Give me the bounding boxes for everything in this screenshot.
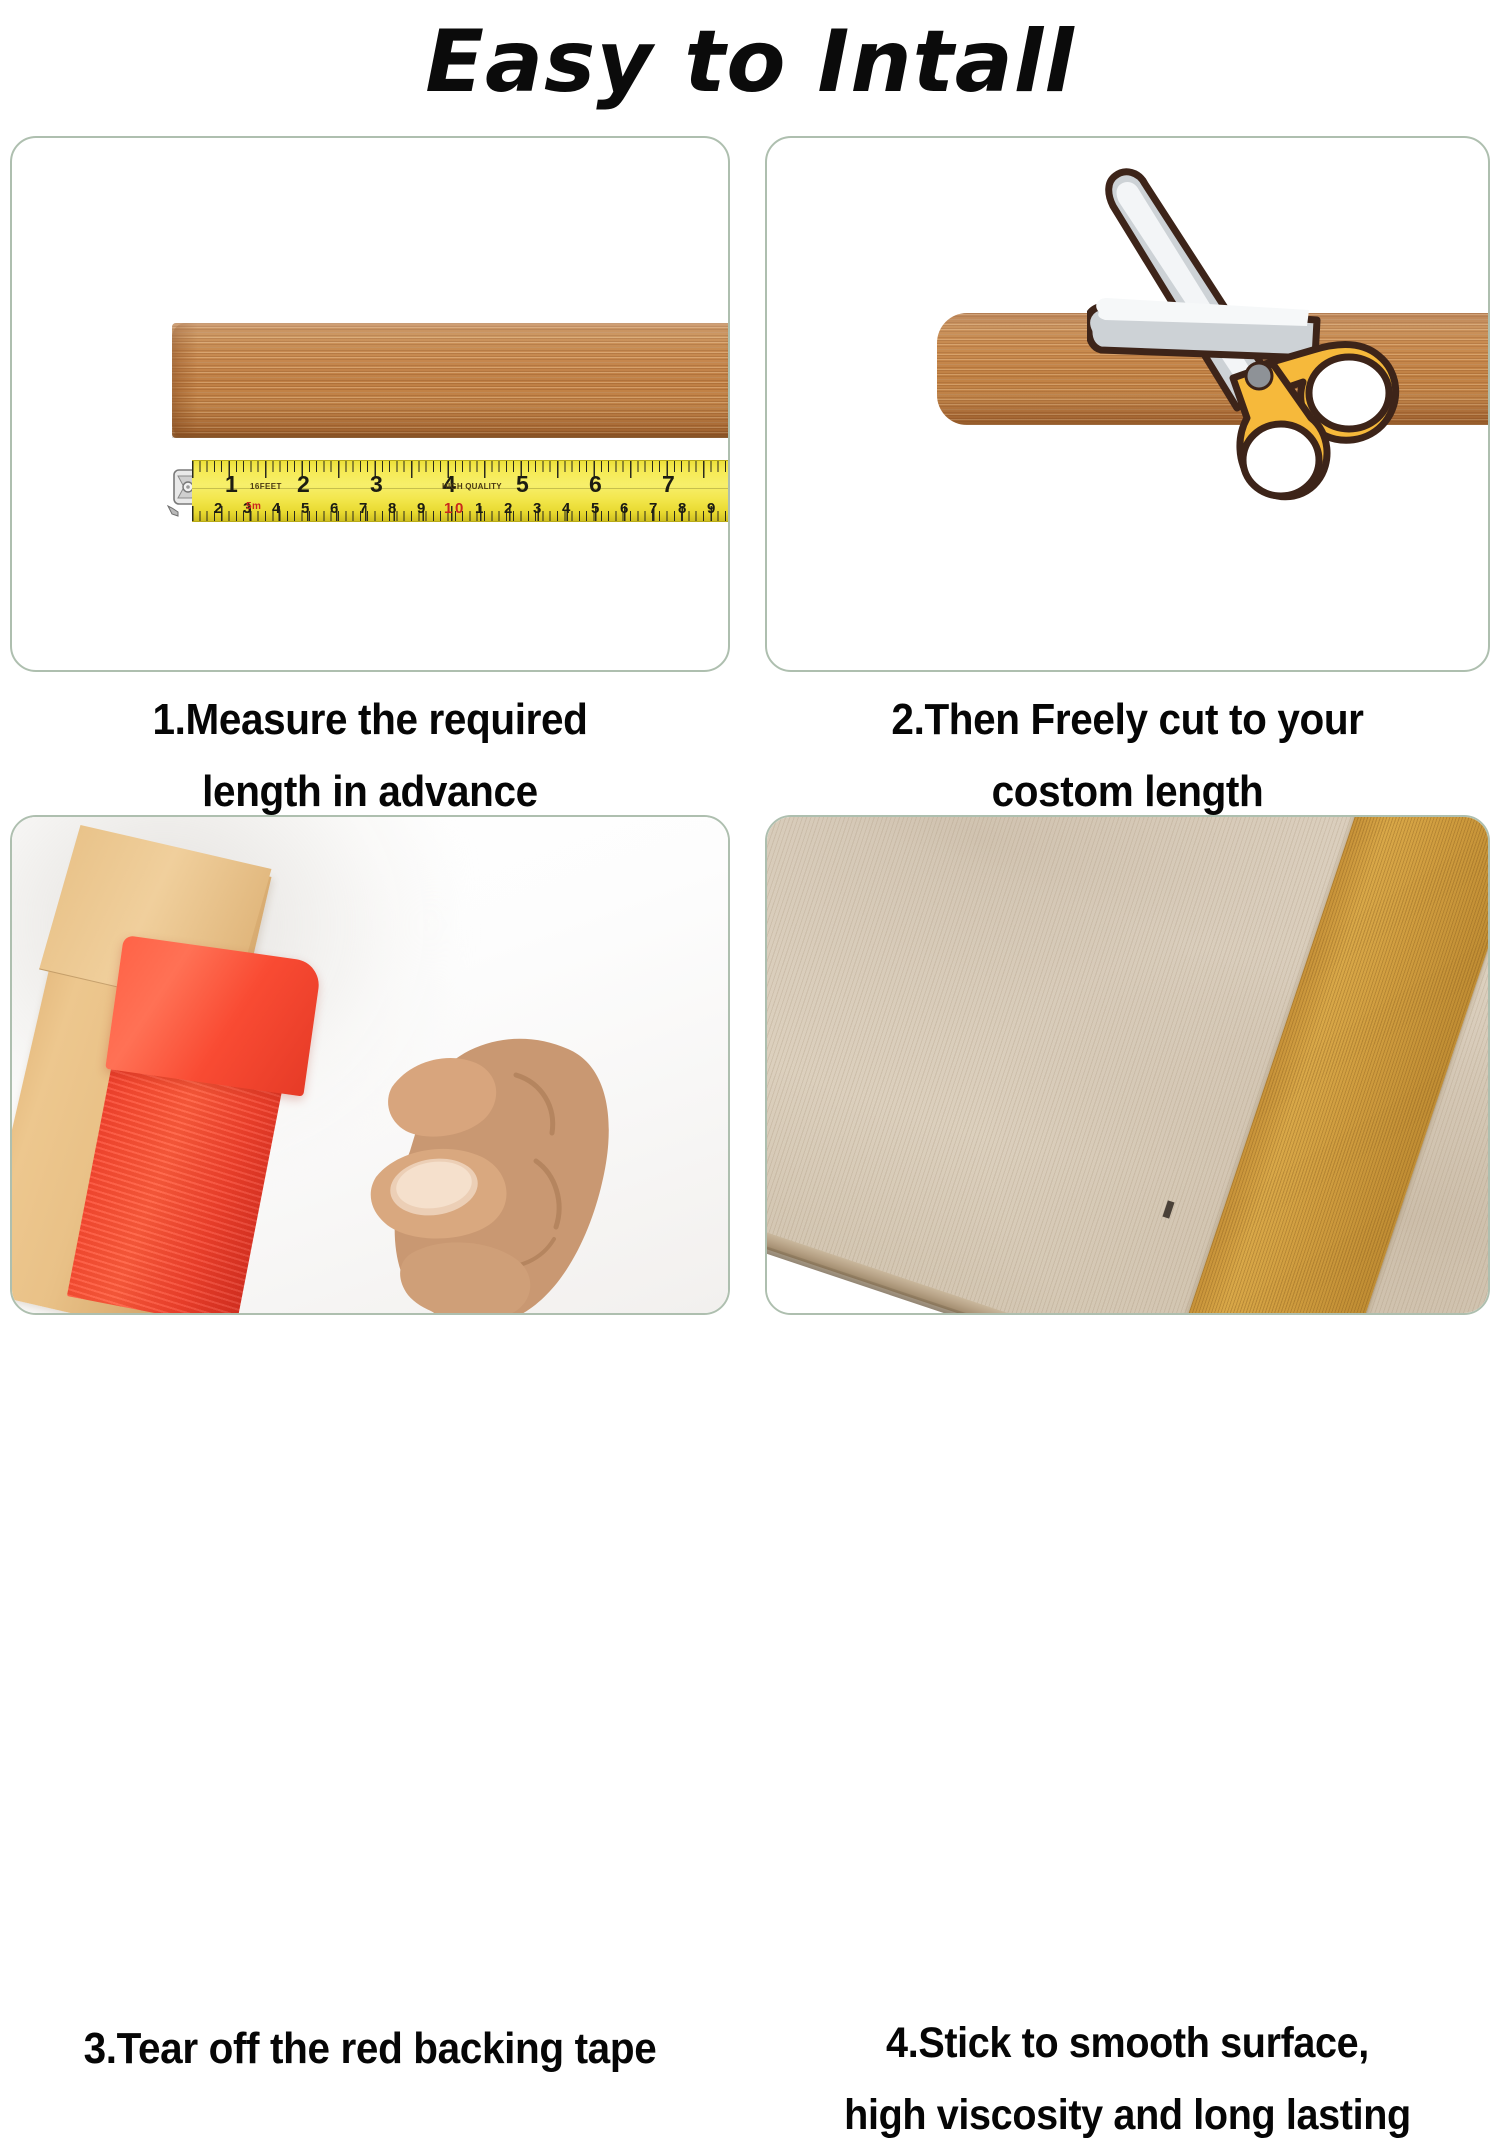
tape-metric-mark: 8	[678, 501, 686, 516]
step-1-image-panel: 1 2 3 4 5 6 7 2 3 4 5 6 7 8 9 1	[10, 136, 730, 672]
step-3-caption-line-1: 3.Tear off the red backing tape	[39, 2013, 701, 2085]
tape-inch-mark: 3	[370, 473, 383, 496]
tape-inch-mark: 7	[662, 473, 675, 496]
tape-metric-mark: 1	[475, 501, 483, 516]
steps-grid: 1 2 3 4 5 6 7 2 3 4 5 6 7 8 9 1	[0, 128, 1500, 1485]
step-1-caption: 1.Measure the required length in advance	[39, 684, 701, 828]
step-2-image-panel	[765, 136, 1490, 672]
tape-metric-mark: 9	[707, 501, 715, 516]
step-1: 1 2 3 4 5 6 7 2 3 4 5 6 7 8 9 1	[10, 136, 730, 672]
step-4-caption: 4.Stick to smooth surface, high viscosit…	[794, 2007, 1461, 2151]
page-title: Easy to Intall	[0, 0, 1500, 125]
tape-brand-quality-label: HIGH QUALITY	[442, 483, 502, 491]
tape-metric-mark: 0	[455, 501, 463, 516]
tape-metric-mark: 8	[388, 501, 396, 516]
tape-measure: 1 2 3 4 5 6 7 2 3 4 5 6 7 8 9 1	[164, 460, 730, 522]
tape-brand-feet-label: 16FEET	[250, 483, 282, 491]
step-3-caption: 3.Tear off the red backing tape	[39, 2013, 701, 2085]
tape-inch-mark: 1	[225, 473, 238, 496]
scissors-icon	[1087, 150, 1447, 530]
step-2-caption: 2.Then Freely cut to your costom length	[794, 684, 1461, 828]
tape-measure-blade: 1 2 3 4 5 6 7 2 3 4 5 6 7 8 9 1	[192, 460, 730, 522]
tape-metric-mark: 6	[620, 501, 628, 516]
tape-metric-mark: 3	[533, 501, 541, 516]
step-3: 3.Tear off the red backing tape	[10, 815, 730, 1315]
wood-trim-strip	[172, 323, 730, 438]
tape-metric-mark: 1	[444, 501, 452, 516]
light-wood-floor	[767, 817, 1488, 1313]
tape-ticks-inch-major	[192, 461, 730, 478]
step-2: 2.Then Freely cut to your costom length	[765, 136, 1490, 672]
tape-metric-mark: 2	[504, 501, 512, 516]
step-4-caption-line-1: 4.Stick to smooth surface,	[794, 2007, 1461, 2079]
tape-metric-mark: 4	[272, 501, 280, 516]
tape-inch-mark: 5	[516, 473, 529, 496]
step-2-caption-line-1: 2.Then Freely cut to your	[794, 684, 1461, 756]
tape-metric-mark: 5	[301, 501, 309, 516]
tape-inch-mark: 6	[589, 473, 602, 496]
tape-metric-mark: 7	[359, 501, 367, 516]
tape-metric-mark: 4	[562, 501, 570, 516]
tape-inch-mark: 2	[297, 473, 310, 496]
hand-icon	[280, 965, 610, 1313]
tape-brand-metric-label: 5m	[246, 502, 261, 512]
tape-metric-mark: 5	[591, 501, 599, 516]
step-4-image-panel	[765, 815, 1490, 1315]
tape-metric-mark: 7	[649, 501, 657, 516]
tape-metric-mark: 9	[417, 501, 425, 516]
tape-metric-mark: 6	[330, 501, 338, 516]
step-4-caption-line-2: high viscosity and long lasting	[794, 2079, 1461, 2151]
step-3-image-panel	[10, 815, 730, 1315]
step-1-caption-line-1: 1.Measure the required	[39, 684, 701, 756]
installed-trim-photo	[767, 817, 1488, 1313]
step-4: 4.Stick to smooth surface, high viscosit…	[765, 815, 1490, 1315]
tape-metric-mark: 2	[214, 501, 222, 516]
peel-backing-tape-photo	[12, 817, 728, 1313]
